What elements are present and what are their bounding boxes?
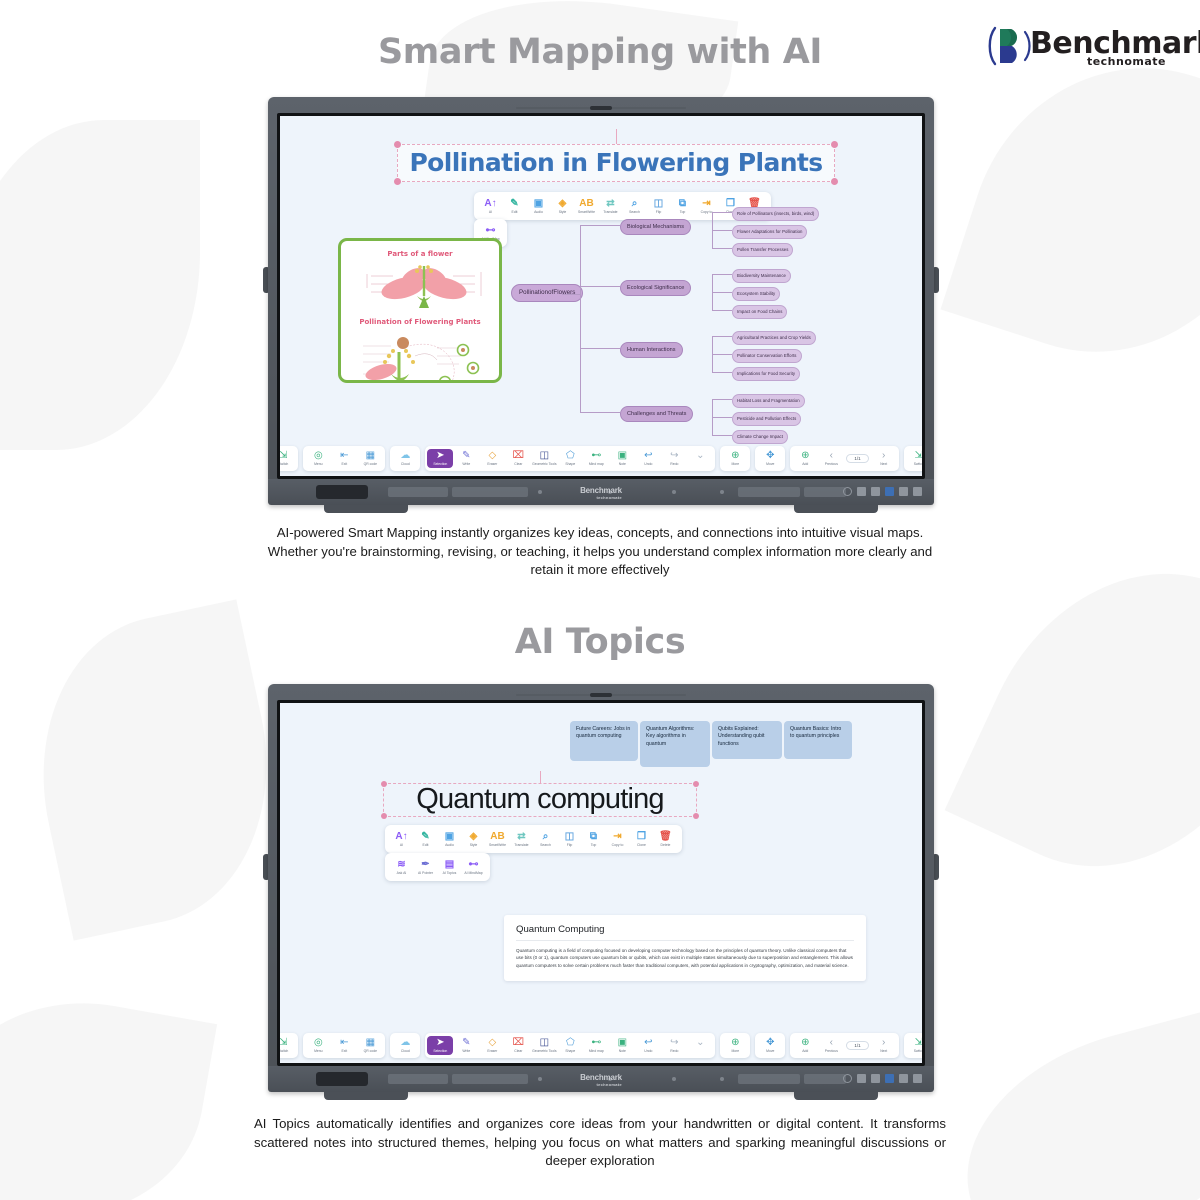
app-item-add[interactable]: ⊕Add bbox=[792, 1036, 818, 1055]
toolbar-item-clone[interactable]: ❐Clone bbox=[630, 829, 653, 849]
app-item-label: Exit bbox=[331, 1049, 357, 1054]
mindmap-connector bbox=[580, 286, 620, 287]
app-item-label: Move bbox=[757, 462, 783, 467]
section-title-ai-topics: AI Topics bbox=[0, 622, 1200, 662]
app-item-selection[interactable]: ➤Selection bbox=[427, 1036, 453, 1055]
ai-topics-icon: ▤ bbox=[438, 859, 461, 870]
chevron-icon: ⌄ bbox=[687, 1037, 713, 1049]
exit-icon: ⇤ bbox=[331, 450, 357, 462]
app-item-geometric-tools[interactable]: ◫Geometric Tools bbox=[531, 449, 557, 468]
mindmap-connector bbox=[712, 399, 732, 400]
ai-topic-card[interactable]: Qubits Explained: Understanding qubit fu… bbox=[712, 721, 782, 759]
cloud-icon: ☁ bbox=[392, 1037, 418, 1049]
app-item-label: Selection bbox=[427, 1049, 453, 1054]
app-item-label: Switch bbox=[280, 462, 296, 467]
ai-toolbar-2[interactable]: ≋Ask AI✒AI Pointer▤AI Topics⊷AI MindMap bbox=[385, 853, 490, 881]
app-item-clear[interactable]: ⌧Clear bbox=[505, 1036, 531, 1055]
mindmap-leaf-node[interactable]: Pollen Transfer Processes bbox=[732, 243, 793, 257]
toolbar-item-copy-to[interactable]: ⇥Copy to bbox=[606, 829, 629, 849]
note-icon: ▣ bbox=[609, 450, 635, 462]
mindmap-branch-node[interactable]: Human Interactions bbox=[620, 342, 683, 358]
power-icon[interactable] bbox=[843, 487, 852, 496]
screen-frame-2: Future Careers: Jobs in quantum computin… bbox=[277, 700, 925, 1066]
app-item-label: Write bbox=[453, 462, 479, 467]
app-item-add[interactable]: ⊕Add bbox=[792, 449, 818, 468]
write-icon: ✎ bbox=[453, 450, 479, 462]
toolbar-item-top[interactable]: ⧉Top bbox=[582, 829, 605, 849]
toolbar-item-label: Translate bbox=[511, 842, 533, 848]
move-icon: ✥ bbox=[757, 1037, 783, 1049]
app-item-label: Cloud bbox=[392, 462, 418, 467]
mindmap-connector bbox=[712, 212, 732, 213]
app-toolbar-group-4: ⊕More bbox=[720, 1033, 750, 1058]
app-item-note[interactable]: ▣Note bbox=[609, 1036, 635, 1055]
mindmap-connector bbox=[712, 435, 732, 436]
app-item-qr-code[interactable]: ▦QR code bbox=[357, 1036, 383, 1055]
power-icon-2[interactable] bbox=[843, 1074, 852, 1083]
app-item-label: Mind map bbox=[583, 462, 609, 467]
mindmap-connector bbox=[712, 310, 732, 311]
flower-card-heading-1: Parts of a flower bbox=[341, 250, 499, 258]
app-item-label: Undo bbox=[635, 462, 661, 467]
port-icon-3 bbox=[885, 487, 894, 496]
toolbar-item-label: Style bbox=[463, 842, 485, 848]
mindmap-leaf-node[interactable]: Ecosystem Stability bbox=[732, 287, 780, 301]
mindmap-connector bbox=[712, 354, 732, 355]
port-icon-2-1 bbox=[857, 1074, 866, 1083]
toolbar-item-label: AI Pointer bbox=[415, 870, 437, 876]
app-item-label: Selection bbox=[427, 462, 453, 467]
toolbar-item-label: Clone bbox=[631, 842, 653, 848]
mindmap-leaf-node[interactable]: Biodiversity Maintenance bbox=[732, 269, 791, 283]
caption-smart-mapping: AI-powered Smart Mapping instantly organ… bbox=[254, 524, 946, 580]
app-item-eraser[interactable]: ◇Eraser bbox=[479, 1036, 505, 1055]
app-item-label: Add bbox=[792, 462, 818, 467]
switch-icon: ⇲ bbox=[906, 450, 922, 462]
port-icon-2 bbox=[871, 487, 880, 496]
app-toolbar-group-5: ✥Move bbox=[755, 446, 785, 471]
app-item-label: Shape bbox=[557, 462, 583, 467]
clear-icon: ⌧ bbox=[505, 1037, 531, 1049]
mindmap-leaf-node[interactable]: Pesticide and Pollution Effects bbox=[732, 412, 801, 426]
app-toolbar-group-7: ⇲Switch bbox=[904, 1033, 922, 1058]
toolbar-item-label: Search bbox=[535, 842, 557, 848]
display-foot-right bbox=[794, 505, 878, 513]
camera-icon bbox=[590, 106, 612, 110]
app-item-label: Menu bbox=[305, 462, 331, 467]
app-item-shape[interactable]: ⬠Shape bbox=[557, 449, 583, 468]
app-toolbar-group-0: ⇲Switch bbox=[280, 1033, 298, 1058]
qr-code-icon: ▦ bbox=[357, 1037, 383, 1049]
mindmap-leaf-node[interactable]: Pollinator Conservation Efforts bbox=[732, 349, 802, 363]
app-item-label: Next bbox=[871, 1049, 897, 1054]
port-icon-2-5 bbox=[913, 1074, 922, 1083]
app-item-redo[interactable]: ↪Redo bbox=[661, 449, 687, 468]
toolbar-item-ask-ai[interactable]: ≋Ask AI bbox=[390, 857, 413, 877]
port-icon-2-4 bbox=[899, 1074, 908, 1083]
mindmap-connector bbox=[712, 417, 732, 418]
undo-icon: ↩ bbox=[635, 1037, 661, 1049]
redo-icon: ↪ bbox=[661, 450, 687, 462]
app-toolbar-2[interactable]: ⇲Switch◎Menu⇤Exit▦QR code☁Cloud➤Selectio… bbox=[280, 1033, 922, 1058]
bezel-brand-logo: Benchmarktechnomate bbox=[580, 486, 622, 500]
app-toolbar-group-3: ➤Selection✎Write◇Eraser⌧Clear◫Geometric … bbox=[425, 1033, 715, 1058]
page-indicator[interactable]: 1/1 bbox=[846, 454, 868, 463]
app-item-label: Move bbox=[757, 1049, 783, 1054]
translate-icon: ⇄ bbox=[510, 831, 533, 842]
app-item-label: QR code bbox=[357, 462, 383, 467]
toolbar-item-label: AI Topics bbox=[439, 870, 461, 876]
toolbar-item-delete[interactable]: 🗑Delete bbox=[654, 829, 677, 849]
app-item-label: Add bbox=[792, 1049, 818, 1054]
toolbar-item-label: Edit bbox=[415, 842, 437, 848]
next-icon: › bbox=[871, 450, 897, 462]
mindmap-connector bbox=[712, 212, 713, 248]
mindmap-connector bbox=[712, 336, 713, 372]
app-item-label: QR code bbox=[357, 1049, 383, 1054]
style-icon: ◈ bbox=[462, 831, 485, 842]
app-item-write[interactable]: ✎Write bbox=[453, 1036, 479, 1055]
app-item-move[interactable]: ✥Move bbox=[757, 1036, 783, 1055]
app-item-label: Switch bbox=[906, 462, 922, 467]
mindmap-leaf-node[interactable]: Climate Change Impact bbox=[732, 430, 788, 444]
toolbar-item-ai-mindmap[interactable]: ⊷AI MindMap bbox=[462, 857, 485, 877]
app-item-label: Geometric Tools bbox=[531, 462, 557, 467]
app-item-label: Switch bbox=[280, 1049, 296, 1054]
bezel-control-icons[interactable] bbox=[843, 487, 922, 496]
app-item-switch[interactable]: ⇲Switch bbox=[906, 1036, 922, 1055]
app-item-label: Clear bbox=[505, 462, 531, 467]
ai-topic-card[interactable]: Future Careers: Jobs in quantum computin… bbox=[570, 721, 638, 761]
app-item-label: More bbox=[722, 462, 748, 467]
previous-icon: ‹ bbox=[818, 1037, 844, 1049]
app-toolbar-group-3: ➤Selection✎Write◇Eraser⌧Clear◫Geometric … bbox=[425, 446, 715, 471]
toolbar-item-label: Flip bbox=[559, 842, 581, 848]
app-item-geometric-tools[interactable]: ◫Geometric Tools bbox=[531, 1036, 557, 1055]
app-item-undo[interactable]: ↩Undo bbox=[635, 449, 661, 468]
mindmap-connector bbox=[712, 292, 732, 293]
ai-topic-document-card[interactable]: Quantum Computing Quantum computing is a… bbox=[504, 915, 866, 981]
geometric-tools-icon: ◫ bbox=[531, 450, 557, 462]
ai-pointer-icon: ✒ bbox=[414, 859, 437, 870]
app-item-undo[interactable]: ↩Undo bbox=[635, 1036, 661, 1055]
toolbar-item-label: Audio bbox=[439, 842, 461, 848]
display-bezel: Pollination in Flowering Plants A↑AI✎Edi… bbox=[268, 97, 934, 505]
app-item-exit[interactable]: ⇤Exit bbox=[331, 449, 357, 468]
toolbar-item-label: AI bbox=[391, 842, 413, 848]
app-toolbar-group-1: ◎Menu⇤Exit▦QR code bbox=[303, 1033, 385, 1058]
previous-icon: ‹ bbox=[818, 450, 844, 462]
mindmap-connector bbox=[580, 348, 620, 349]
screen-frame: Pollination in Flowering Plants A↑AI✎Edi… bbox=[277, 113, 925, 479]
app-item-label: Clear bbox=[505, 1049, 531, 1054]
mindmap-spine bbox=[580, 225, 581, 412]
app-item-clear[interactable]: ⌧Clear bbox=[505, 449, 531, 468]
app-item-switch[interactable]: ⇲Switch bbox=[906, 449, 922, 468]
edit-icon: ✎ bbox=[414, 831, 437, 842]
ask-ai-icon: ≋ bbox=[390, 859, 413, 870]
app-item-label: Cloud bbox=[392, 1049, 418, 1054]
port-icon-1 bbox=[857, 487, 866, 496]
shape-icon: ⬠ bbox=[557, 1037, 583, 1049]
section-title-smart-mapping: Smart Mapping with AI bbox=[0, 32, 1200, 72]
canvas-title[interactable]: Quantum computing bbox=[385, 783, 695, 816]
app-toolbar-group-6: ⊕Add‹Previous1/1›Next bbox=[790, 446, 898, 471]
mindmap-leaf-node[interactable]: Habitat Loss and Fragmentation bbox=[732, 394, 805, 408]
flower-anatomy-diagram-icon bbox=[341, 258, 502, 310]
mindmap-connector bbox=[712, 248, 732, 249]
toolbar-item-ai-topics[interactable]: ▤AI Topics bbox=[438, 857, 461, 877]
switch-icon: ⇲ bbox=[280, 450, 296, 462]
page-indicator[interactable]: 1/1 bbox=[846, 1041, 868, 1050]
mindmap-connector bbox=[580, 225, 620, 226]
bezel-sensor-panel bbox=[316, 485, 368, 499]
qr-code-icon: ▦ bbox=[357, 450, 383, 462]
app-item-label: Note bbox=[609, 462, 635, 467]
app-item-shape[interactable]: ⬠Shape bbox=[557, 1036, 583, 1055]
display-bottom-bezel-2: Benchmarktechnomate bbox=[268, 1066, 934, 1092]
audio-icon: ▣ bbox=[438, 831, 461, 842]
app-item-cloud[interactable]: ☁Cloud bbox=[392, 449, 418, 468]
undo-icon: ↩ bbox=[635, 450, 661, 462]
app-item-label: More bbox=[722, 1049, 748, 1054]
app-item-switch[interactable]: ⇲Switch bbox=[280, 449, 296, 468]
app-item-label: Eraser bbox=[479, 1049, 505, 1054]
mindmap-connector bbox=[712, 274, 713, 310]
shape-icon: ⬠ bbox=[557, 450, 583, 462]
app-item-more[interactable]: ⊕More bbox=[722, 449, 748, 468]
search-icon: ⌕ bbox=[534, 831, 557, 842]
mindmap-connector bbox=[562, 294, 580, 295]
port-icon-2-3 bbox=[885, 1074, 894, 1083]
mindmap-connector bbox=[712, 230, 732, 231]
app-item-label: Shape bbox=[557, 1049, 583, 1054]
interactive-display-2: Future Careers: Jobs in quantum computin… bbox=[268, 684, 934, 1092]
app-item-label: Undo bbox=[635, 1049, 661, 1054]
app-item-label: Switch bbox=[906, 1049, 922, 1054]
toolbar-item-edit[interactable]: ✎Edit bbox=[414, 829, 437, 849]
app-item-qr-code[interactable]: ▦QR code bbox=[357, 449, 383, 468]
app-toolbar-group-4: ⊕More bbox=[720, 446, 750, 471]
display-top-bar-2 bbox=[277, 693, 925, 700]
app-item-move[interactable]: ✥Move bbox=[757, 449, 783, 468]
app-item-label: Redo bbox=[661, 1049, 687, 1054]
flip-icon: ◫ bbox=[558, 831, 581, 842]
toolbar-item-style[interactable]: ◈Style bbox=[462, 829, 485, 849]
app-item-chevron[interactable]: ⌄ bbox=[687, 449, 713, 468]
add-icon: ⊕ bbox=[792, 1037, 818, 1049]
screen-canvas-2[interactable]: Future Careers: Jobs in quantum computin… bbox=[280, 703, 922, 1063]
toolbar-item-label: Top bbox=[583, 842, 605, 848]
mindmap-connector bbox=[712, 274, 732, 275]
app-item-next[interactable]: ›Next bbox=[871, 1036, 897, 1055]
eraser-icon: ◇ bbox=[479, 1037, 505, 1049]
app-item-next[interactable]: ›Next bbox=[871, 449, 897, 468]
bezel-brand-logo-2: Benchmarktechnomate bbox=[580, 1073, 622, 1087]
ai-topic-card[interactable]: Quantum Algorithms: Key algorithms in qu… bbox=[640, 721, 710, 767]
toolbar-item-label: AI MindMap bbox=[463, 870, 485, 876]
document-body: Quantum computing is a field of computin… bbox=[516, 947, 854, 969]
mindmap-branch-node[interactable]: Biological Mechanisms bbox=[620, 219, 691, 235]
mindmap-leaf-node[interactable]: Impact on Food Chains bbox=[732, 305, 787, 319]
app-toolbar-group-0: ⇲Switch bbox=[280, 446, 298, 471]
app-item-label: Exit bbox=[331, 462, 357, 467]
interactive-display-1: Pollination in Flowering Plants A↑AI✎Edi… bbox=[268, 97, 934, 505]
exit-icon: ⇤ bbox=[331, 1037, 357, 1049]
ai-topic-card[interactable]: Quantum Basics: Intro to quantum princip… bbox=[784, 721, 852, 759]
clear-icon: ⌧ bbox=[505, 450, 531, 462]
mindmap-connector bbox=[712, 372, 732, 373]
pollination-diagram-icon bbox=[341, 326, 502, 383]
rotate-handle-2[interactable] bbox=[540, 771, 541, 783]
app-item-cloud[interactable]: ☁Cloud bbox=[392, 1036, 418, 1055]
port-icon-2-2 bbox=[871, 1074, 880, 1083]
smartwrite-icon: AB bbox=[486, 831, 509, 842]
app-item-label: Geometric Tools bbox=[531, 1049, 557, 1054]
app-toolbar-group-6: ⊕Add‹Previous1/1›Next bbox=[790, 1033, 898, 1058]
app-toolbar-group-7: ⇲Switch bbox=[904, 446, 922, 471]
document-heading: Quantum Computing bbox=[516, 924, 854, 941]
eraser-icon: ◇ bbox=[479, 450, 505, 462]
app-item-label: Previous bbox=[818, 462, 844, 467]
mindmap-connector bbox=[712, 399, 713, 435]
toolbar-item-label: Delete bbox=[655, 842, 677, 848]
app-item-label: Menu bbox=[305, 1049, 331, 1054]
app-item-redo[interactable]: ↪Redo bbox=[661, 1036, 687, 1055]
app-toolbar-1[interactable]: ⇲Switch◎Menu⇤Exit▦QR code☁Cloud➤Selectio… bbox=[280, 446, 922, 471]
app-item-more[interactable]: ⊕More bbox=[722, 1036, 748, 1055]
flower-illustration-card[interactable]: Parts of a flower bbox=[338, 238, 502, 383]
mindmap-leaf-node[interactable]: Flower Adaptations for Pollination bbox=[732, 225, 807, 239]
toolbar-item-ai[interactable]: A↑AI bbox=[390, 829, 413, 849]
toolbar-item-smartwrite[interactable]: ABSmartWrite bbox=[486, 829, 509, 849]
app-item-note[interactable]: ▣Note bbox=[609, 449, 635, 468]
copy-to-icon: ⇥ bbox=[606, 831, 629, 842]
flower-card-heading-2: Pollination of Flowering Plants bbox=[341, 318, 499, 326]
switch-icon: ⇲ bbox=[280, 1037, 296, 1049]
more-icon: ⊕ bbox=[722, 1037, 748, 1049]
app-item-menu[interactable]: ◎Menu bbox=[305, 1036, 331, 1055]
port-icon-4 bbox=[899, 487, 908, 496]
redo-icon: ↪ bbox=[661, 1037, 687, 1049]
app-item-label: Next bbox=[871, 462, 897, 467]
app-item-eraser[interactable]: ◇Eraser bbox=[479, 449, 505, 468]
add-icon: ⊕ bbox=[792, 450, 818, 462]
object-toolbar-2[interactable]: A↑AI✎Edit▣Audio◈StyleABSmartWrite⇄Transl… bbox=[385, 825, 682, 853]
selection-icon: ➤ bbox=[427, 1037, 453, 1049]
app-item-exit[interactable]: ⇤Exit bbox=[331, 1036, 357, 1055]
mindmap-leaf-node[interactable]: Agricultural Practices and Crop Yields bbox=[732, 331, 816, 345]
clone-icon: ❐ bbox=[630, 831, 653, 842]
more-icon: ⊕ bbox=[722, 450, 748, 462]
mindmap-leaf-node[interactable]: Implications for Food Security bbox=[732, 367, 800, 381]
toolbar-item-translate[interactable]: ⇄Translate bbox=[510, 829, 533, 849]
mind-map-icon: ⊷ bbox=[583, 1037, 609, 1049]
display-foot-left-2 bbox=[324, 1092, 408, 1100]
top-icon: ⧉ bbox=[582, 831, 605, 842]
display-bottom-bezel: Benchmarktechnomate bbox=[268, 479, 934, 505]
display-foot-left bbox=[324, 505, 408, 513]
move-icon: ✥ bbox=[757, 450, 783, 462]
toolbar-item-flip[interactable]: ◫Flip bbox=[558, 829, 581, 849]
port-icon-5 bbox=[913, 487, 922, 496]
mind-map-icon: ⊷ bbox=[583, 450, 609, 462]
app-item-menu[interactable]: ◎Menu bbox=[305, 449, 331, 468]
app-toolbar-group-2: ☁Cloud bbox=[390, 446, 420, 471]
app-toolbar-group-1: ◎Menu⇤Exit▦QR code bbox=[303, 446, 385, 471]
display-top-bar bbox=[277, 106, 925, 113]
bezel-sensor-panel-2 bbox=[316, 1072, 368, 1086]
app-item-chevron[interactable]: ⌄ bbox=[687, 1036, 713, 1055]
switch-icon: ⇲ bbox=[906, 1037, 922, 1049]
app-item-label: Mind map bbox=[583, 1049, 609, 1054]
mindmap-leaf-node[interactable]: Role of Pollinators (insects, birds, win… bbox=[732, 207, 819, 221]
toolbar-item-audio[interactable]: ▣Audio bbox=[438, 829, 461, 849]
display-bezel-2: Future Careers: Jobs in quantum computin… bbox=[268, 684, 934, 1092]
caption-ai-topics: AI Topics automatically identifies and o… bbox=[254, 1115, 946, 1171]
note-icon: ▣ bbox=[609, 1037, 635, 1049]
menu-icon: ◎ bbox=[305, 1037, 331, 1049]
toolbar-item-label: SmartWrite bbox=[487, 842, 509, 848]
toolbar-item-label: Ask AI bbox=[391, 870, 413, 876]
ai-mindmap-icon: ⊷ bbox=[462, 859, 485, 870]
ai-icon: A↑ bbox=[390, 831, 413, 842]
toolbar-item-label: Copy to bbox=[607, 842, 629, 848]
screen-canvas-1[interactable]: Pollination in Flowering Plants A↑AI✎Edi… bbox=[280, 116, 922, 476]
geometric-tools-icon: ◫ bbox=[531, 1037, 557, 1049]
chevron-icon: ⌄ bbox=[687, 450, 713, 462]
app-item-switch[interactable]: ⇲Switch bbox=[280, 1036, 296, 1055]
cloud-icon: ☁ bbox=[392, 450, 418, 462]
toolbar-item-search[interactable]: ⌕Search bbox=[534, 829, 557, 849]
app-item-label: Note bbox=[609, 1049, 635, 1054]
mindmap-branch-node[interactable]: Ecological Significance bbox=[620, 280, 691, 296]
app-toolbar-group-5: ✥Move bbox=[755, 1033, 785, 1058]
display-foot-right-2 bbox=[794, 1092, 878, 1100]
selection-icon: ➤ bbox=[427, 450, 453, 462]
app-item-label: Previous bbox=[818, 1049, 844, 1054]
app-item-write[interactable]: ✎Write bbox=[453, 449, 479, 468]
camera-icon-2 bbox=[590, 693, 612, 697]
app-item-mind-map[interactable]: ⊷Mind map bbox=[583, 449, 609, 468]
mindmap-connector bbox=[580, 412, 620, 413]
toolbar-item-ai-pointer[interactable]: ✒AI Pointer bbox=[414, 857, 437, 877]
menu-icon: ◎ bbox=[305, 450, 331, 462]
app-item-selection[interactable]: ➤Selection bbox=[427, 449, 453, 468]
bezel-control-icons-2[interactable] bbox=[843, 1074, 922, 1083]
app-item-label: Write bbox=[453, 1049, 479, 1054]
app-toolbar-group-2: ☁Cloud bbox=[390, 1033, 420, 1058]
app-item-previous[interactable]: ‹Previous bbox=[818, 1036, 844, 1055]
app-item-label: Redo bbox=[661, 462, 687, 467]
app-item-previous[interactable]: ‹Previous bbox=[818, 449, 844, 468]
delete-icon: 🗑 bbox=[654, 831, 677, 842]
next-icon: › bbox=[871, 1037, 897, 1049]
write-icon: ✎ bbox=[453, 1037, 479, 1049]
mindmap-connector bbox=[712, 336, 732, 337]
app-item-label: Eraser bbox=[479, 462, 505, 467]
mindmap-branch-node[interactable]: Challenges and Threats bbox=[620, 406, 693, 422]
app-item-mind-map[interactable]: ⊷Mind map bbox=[583, 1036, 609, 1055]
